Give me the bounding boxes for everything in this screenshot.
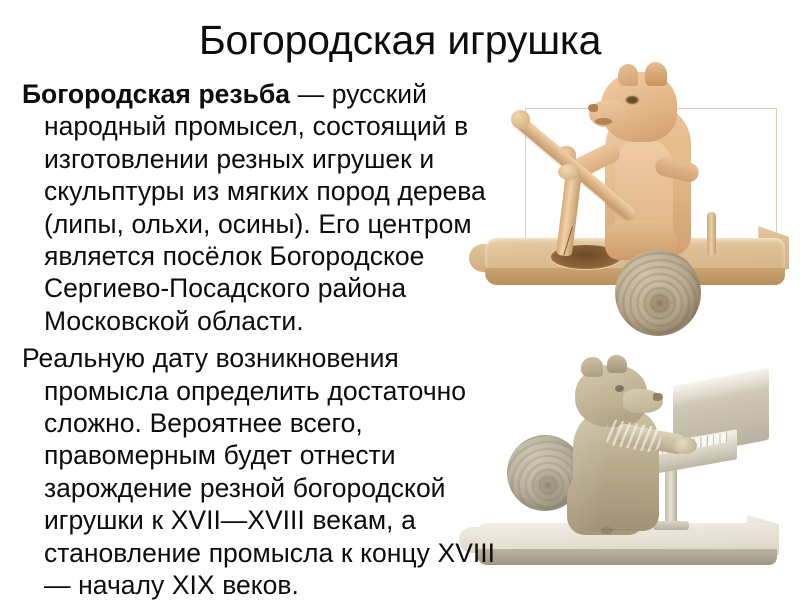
bear-mouth <box>595 118 612 125</box>
paragraph-1-inline: Богородская резьба — русский народный пр… <box>22 79 486 336</box>
bear-ear-left <box>618 64 638 86</box>
bear-nose <box>588 104 598 112</box>
body-text-block: Богородская резьба — русский народный пр… <box>22 78 522 600</box>
paragraph-2-rest: Реальную дату возникновения промысла опр… <box>22 343 495 600</box>
piano-foot <box>653 521 689 530</box>
bear-paw <box>673 437 697 454</box>
bear-ear-left <box>581 357 603 377</box>
pivot-peg <box>601 527 613 534</box>
paragraph-1-lead: Богородская резьба <box>22 79 290 109</box>
bear-ear-right <box>645 62 667 86</box>
paragraph-2: Реальную дату возникновения промысла опр… <box>22 342 522 600</box>
plunger-cap <box>558 164 580 180</box>
paragraph-1-rest: — русский народный промысел, состоящий в… <box>44 79 486 336</box>
base-board-edge <box>477 549 777 565</box>
paragraph-1: Богородская резьба — русский народный пр… <box>22 78 522 337</box>
slide-canvas: Богородская игрушка Богородская резьба —… <box>0 0 800 600</box>
bear-eye <box>625 95 640 105</box>
wooden-ball <box>615 250 701 336</box>
support-post <box>707 212 716 256</box>
page-title: Богородская игрушка <box>0 16 800 64</box>
bear-nose <box>653 393 663 401</box>
paragraph-2-inline: Реальную дату возникновения промысла опр… <box>22 343 495 600</box>
piano-leg <box>665 465 677 527</box>
bear-eye <box>615 385 624 392</box>
bear-ear-right <box>607 355 627 373</box>
